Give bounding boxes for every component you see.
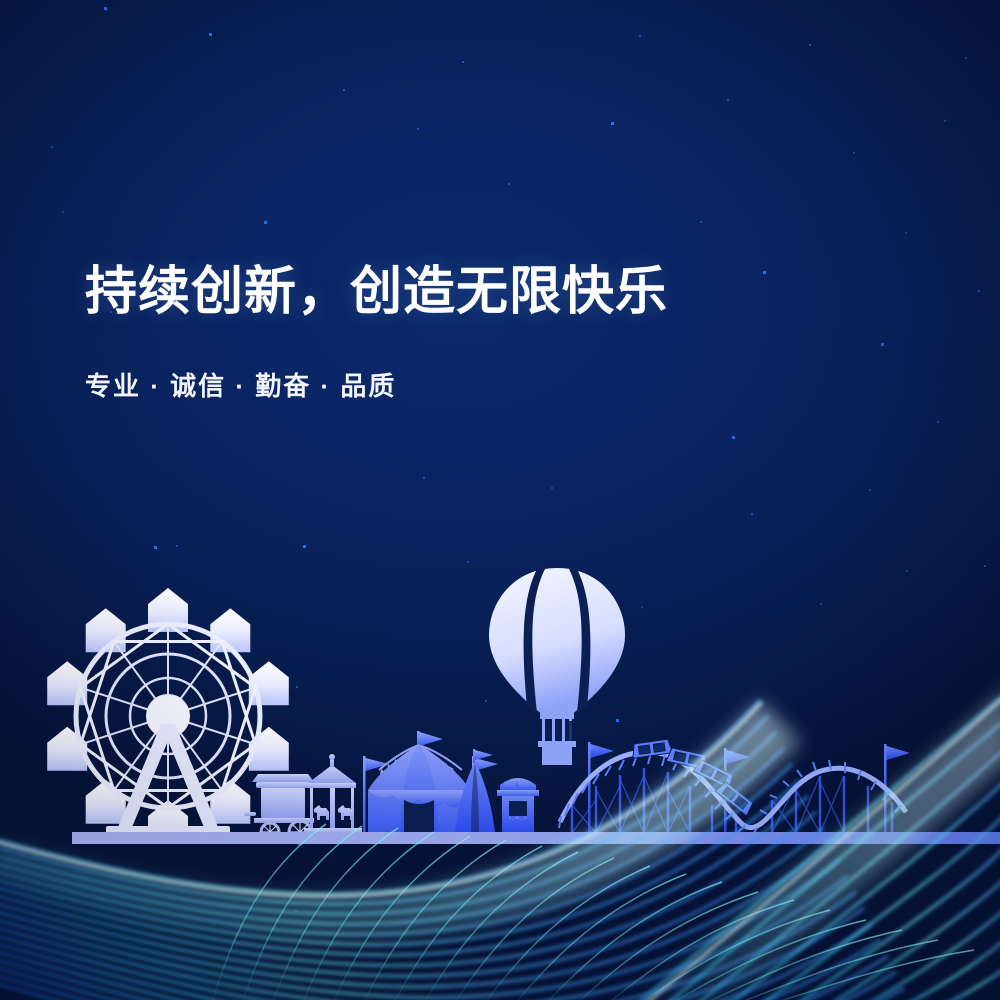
hero-text-block: 持续创新，创造无限快乐 专业 · 诚信 · 勤奋 · 品质 <box>85 262 945 403</box>
banner-canvas: 持续创新，创造无限快乐 专业 · 诚信 · 勤奋 · 品质 <box>0 0 1000 1000</box>
page-subtitle: 专业 · 诚信 · 勤奋 · 品质 <box>85 322 945 403</box>
page-title: 持续创新，创造无限快乐 <box>85 262 945 322</box>
glowing-mesh-wave <box>0 0 1000 1000</box>
